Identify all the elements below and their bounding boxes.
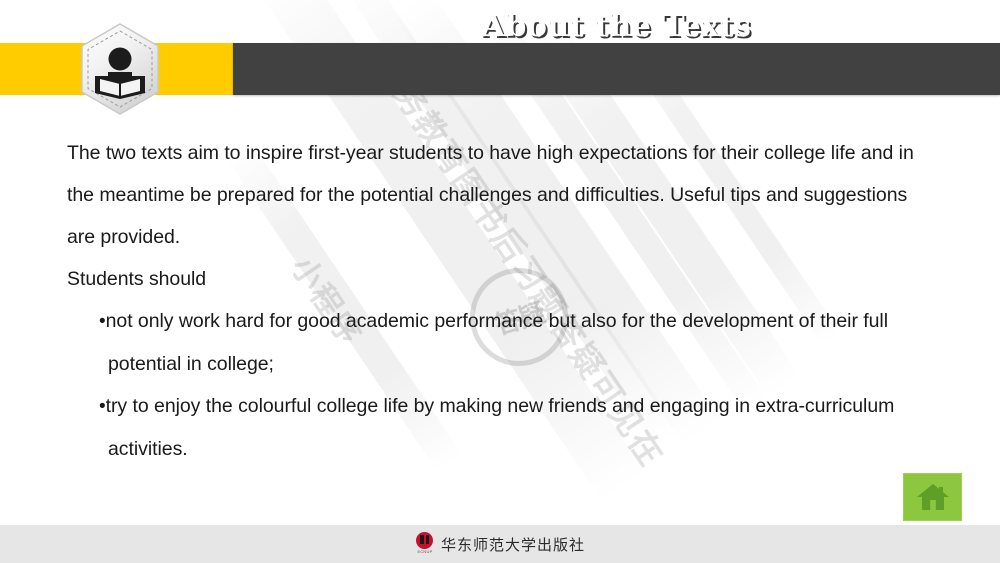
bullet-marker-icon: • — [99, 396, 106, 417]
bullet-list: •not only work hard for good academic pe… — [0, 300, 1000, 470]
section-badge — [78, 22, 162, 116]
logo-disc — [416, 532, 433, 549]
reader-person-icon — [78, 22, 162, 116]
publisher-name: 华东师范大学出版社 — [441, 534, 585, 555]
body-paragraph-lead-in: Students should — [0, 258, 1000, 300]
bullet-marker-icon: • — [99, 311, 106, 332]
home-icon — [916, 482, 950, 512]
home-button[interactable] — [903, 473, 962, 521]
publisher-logo-icon: ECNUP — [415, 532, 435, 556]
list-item: •try to enjoy the colourful college life… — [99, 385, 940, 470]
list-item: •not only work hard for good academic pe… — [99, 300, 940, 385]
slide: 义务教育图书后习题答疑可见在 小程序 答疑 About the Texts — [0, 0, 1000, 563]
list-item-text: not only work hard for good academic per… — [106, 310, 888, 375]
footer-bar: ECNUP 华东师范大学出版社 — [0, 525, 1000, 563]
list-item-text: try to enjoy the colourful college life … — [106, 395, 895, 460]
logo-mark-text: ECNUP — [417, 549, 432, 555]
slide-body: The two texts aim to inspire first-year … — [0, 132, 1000, 470]
page-title: About the Texts — [233, 0, 1000, 52]
body-paragraph-intro: The two texts aim to inspire first-year … — [0, 132, 1000, 258]
